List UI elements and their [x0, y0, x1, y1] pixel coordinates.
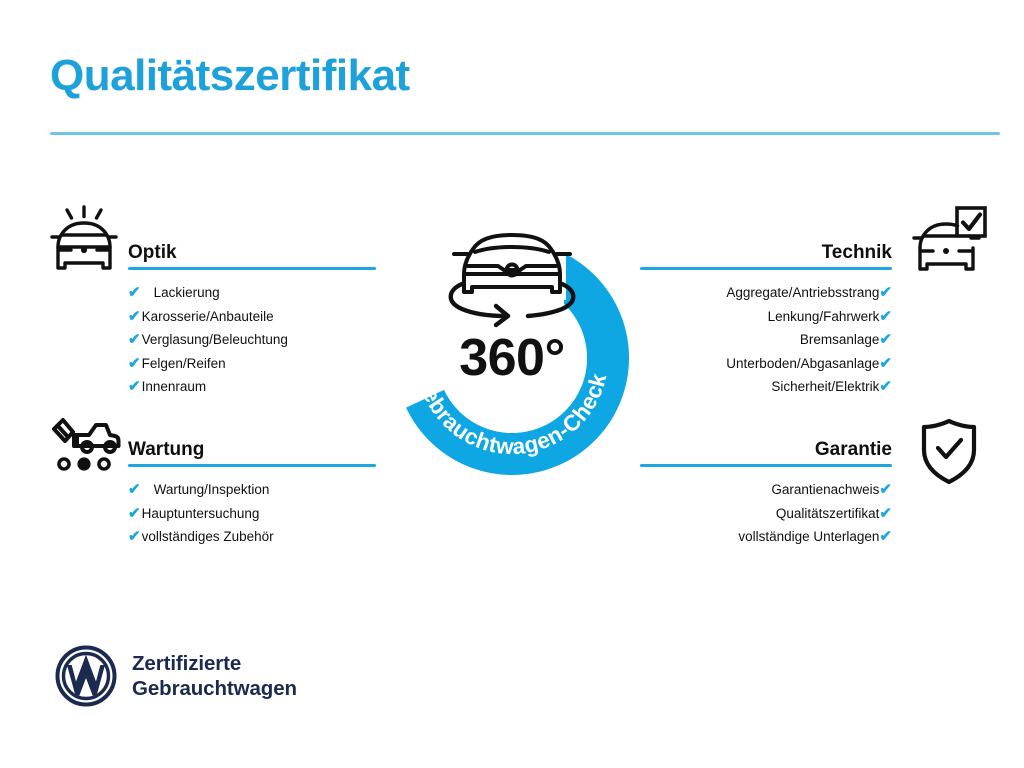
badge-center-text: 360°: [459, 329, 565, 387]
list-item: Garantienachweis ✔: [640, 478, 892, 502]
list-item: Qualitätszertifikat ✔: [640, 502, 892, 526]
list-item: ✔ Felgen/Reifen: [128, 352, 376, 376]
brand-line-2: Gebrauchtwagen: [132, 676, 297, 701]
brand-line-1: Zertifizierte: [132, 651, 297, 676]
section-garantie: Garantie Garantienachweis ✔ Qualitätszer…: [640, 433, 892, 549]
section-header: Technik: [640, 236, 892, 270]
list-item-label: Lackierung: [154, 286, 220, 300]
checklist-garantie: Garantienachweis ✔ Qualitätszertifikat ✔…: [640, 478, 892, 549]
list-item: ✔ Wartung/Inspektion: [128, 478, 376, 502]
list-item: Aggregate/Antriebsstrang ✔: [640, 281, 892, 305]
checklist-technik: Aggregate/Antriebsstrang ✔ Lenkung/Fahrw…: [640, 281, 892, 399]
car-shine-icon: [44, 204, 124, 278]
list-item: ✔ vollständiges Zubehör: [128, 525, 376, 549]
list-item-label: Wartung/Inspektion: [154, 483, 270, 497]
section-optik: Optik ✔ Lackierung ✔ Karosserie/Anbautei…: [128, 236, 376, 399]
list-item-label: Qualitätszertifikat: [776, 507, 880, 521]
list-item: vollständige Unterlagen ✔: [640, 525, 892, 549]
list-item-label: Felgen/Reifen: [142, 357, 226, 371]
section-header: Optik: [128, 236, 376, 270]
check-icon: ✔: [128, 482, 141, 497]
certificate-page: Qualitätszertifikat Optik: [0, 0, 1024, 768]
section-wartung: Wartung ✔ Wartung/Inspektion ✔ Hauptunte…: [128, 433, 376, 549]
list-item-label: vollständige Unterlagen: [738, 530, 879, 544]
section-title-optik: Optik: [128, 242, 177, 264]
list-item: Sicherheit/Elektrik ✔: [640, 375, 892, 399]
check-icon: ✔: [879, 379, 892, 394]
section-title-wartung: Wartung: [128, 439, 204, 461]
section-title-technik: Technik: [822, 242, 892, 264]
list-item: Unterboden/Abgasanlage ✔: [640, 352, 892, 376]
car-lift-wrench-icon: [44, 414, 124, 476]
list-item-label: Verglasung/Beleuchtung: [142, 333, 288, 347]
section-header: Wartung: [128, 433, 376, 467]
list-item-label: Unterboden/Abgasanlage: [726, 357, 879, 371]
section-underline: [640, 267, 892, 270]
list-item-label: Hauptuntersuchung: [142, 507, 260, 521]
car-checkbox-icon: [908, 204, 988, 278]
page-title: Qualitätszertifikat: [50, 52, 410, 100]
list-item-label: Lenkung/Fahrwerk: [768, 310, 880, 324]
section-underline: [128, 267, 376, 270]
list-item: Lenkung/Fahrwerk ✔: [640, 305, 892, 329]
section-technik: Technik Aggregate/Antriebsstrang ✔ Lenku…: [640, 236, 892, 399]
checklist-optik: ✔ Lackierung ✔ Karosserie/Anbauteile ✔ V…: [128, 281, 376, 399]
section-underline: [640, 464, 892, 467]
list-item-label: Karosserie/Anbauteile: [142, 310, 274, 324]
list-item-label: Aggregate/Antriebsstrang: [726, 286, 879, 300]
list-item: ✔ Lackierung: [128, 281, 376, 305]
check-icon: ✔: [128, 379, 141, 394]
list-item-label: vollständiges Zubehör: [142, 530, 274, 544]
list-item-label: Garantienachweis: [771, 483, 879, 497]
section-title-garantie: Garantie: [815, 439, 892, 461]
list-item: ✔ Karosserie/Anbauteile: [128, 305, 376, 329]
check-icon: ✔: [128, 356, 141, 371]
check-icon: ✔: [128, 285, 141, 300]
badge-360-gebrauchtwagen-check: Gebrauchtwagen-Check 360°: [372, 198, 652, 483]
check-icon: ✔: [879, 482, 892, 497]
check-icon: ✔: [879, 309, 892, 324]
list-item: ✔ Innenraum: [128, 375, 376, 399]
list-item-label: Sicherheit/Elektrik: [771, 380, 879, 394]
check-icon: ✔: [879, 356, 892, 371]
list-item-label: Innenraum: [142, 380, 207, 394]
check-icon: ✔: [879, 332, 892, 347]
shield-check-icon: [916, 416, 982, 486]
check-icon: ✔: [879, 506, 892, 521]
check-icon: ✔: [879, 529, 892, 544]
list-item: Bremsanlage ✔: [640, 328, 892, 352]
list-item: ✔ Verglasung/Beleuchtung: [128, 328, 376, 352]
check-icon: ✔: [879, 285, 892, 300]
brand-lockup: Zertifizierte Gebrauchtwagen: [55, 645, 297, 707]
check-icon: ✔: [128, 309, 141, 324]
check-icon: ✔: [128, 332, 141, 347]
list-item-label: Bremsanlage: [800, 333, 880, 347]
section-underline: [128, 464, 376, 467]
check-icon: ✔: [128, 506, 141, 521]
vw-logo-icon: [55, 645, 117, 707]
checklist-wartung: ✔ Wartung/Inspektion ✔ Hauptuntersuchung…: [128, 478, 376, 549]
list-item: ✔ Hauptuntersuchung: [128, 502, 376, 526]
check-icon: ✔: [128, 529, 141, 544]
header-divider: [50, 132, 1000, 135]
section-header: Garantie: [640, 433, 892, 467]
brand-text: Zertifizierte Gebrauchtwagen: [132, 651, 297, 701]
